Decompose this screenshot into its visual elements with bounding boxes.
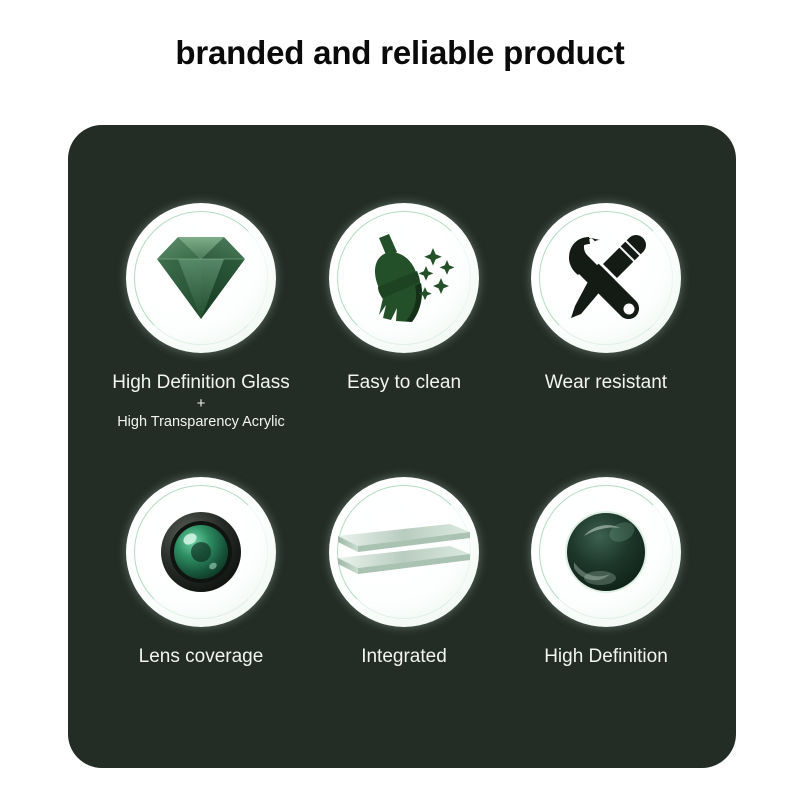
feature-item-high-definition-glass[interactable]: High Definition Glass + High Transparenc… — [100, 203, 302, 432]
page-title: branded and reliable product — [0, 34, 800, 72]
medallion-glass-stack — [329, 477, 479, 627]
feature-caption: Integrated — [303, 645, 505, 669]
broom-sparkle-icon — [329, 203, 479, 353]
feature-label: Integrated — [361, 646, 447, 667]
glossy-sphere-icon — [531, 477, 681, 627]
feature-label: High Definition Glass — [112, 372, 289, 393]
medallion-lens — [126, 477, 276, 627]
diamond-icon — [126, 203, 276, 353]
feature-label: Wear resistant — [545, 372, 667, 393]
feature-label: Lens coverage — [139, 646, 264, 667]
feature-caption: High Definition Glass + High Transparenc… — [75, 371, 327, 432]
feature-sublabel: High Transparency Acrylic — [75, 413, 327, 432]
feature-caption: High Definition — [505, 645, 707, 669]
feature-caption: Lens coverage — [100, 645, 302, 669]
feature-label: Easy to clean — [347, 372, 461, 393]
feature-item-easy-to-clean[interactable]: Easy to clean — [303, 203, 505, 395]
medallion-diamond — [126, 203, 276, 353]
feature-grid: High Definition Glass + High Transparenc… — [68, 125, 736, 768]
medallion-broom — [329, 203, 479, 353]
camera-lens-icon — [126, 477, 276, 627]
feature-card: High Definition Glass + High Transparenc… — [68, 125, 736, 768]
feature-label: High Definition — [544, 646, 668, 667]
medallion-sphere — [531, 477, 681, 627]
feature-plus: + — [75, 396, 327, 411]
wrench-screwdriver-icon — [531, 203, 681, 353]
feature-item-lens-coverage[interactable]: Lens coverage — [100, 477, 302, 669]
medallion-tools — [531, 203, 681, 353]
stacked-glass-sheets-icon — [329, 477, 479, 627]
feature-caption: Easy to clean — [303, 371, 505, 395]
product-feature-infographic: branded and reliable product — [0, 0, 800, 800]
feature-item-integrated[interactable]: Integrated — [303, 477, 505, 669]
feature-item-wear-resistant[interactable]: Wear resistant — [505, 203, 707, 395]
feature-caption: Wear resistant — [505, 371, 707, 395]
feature-item-high-definition[interactable]: High Definition — [505, 477, 707, 669]
